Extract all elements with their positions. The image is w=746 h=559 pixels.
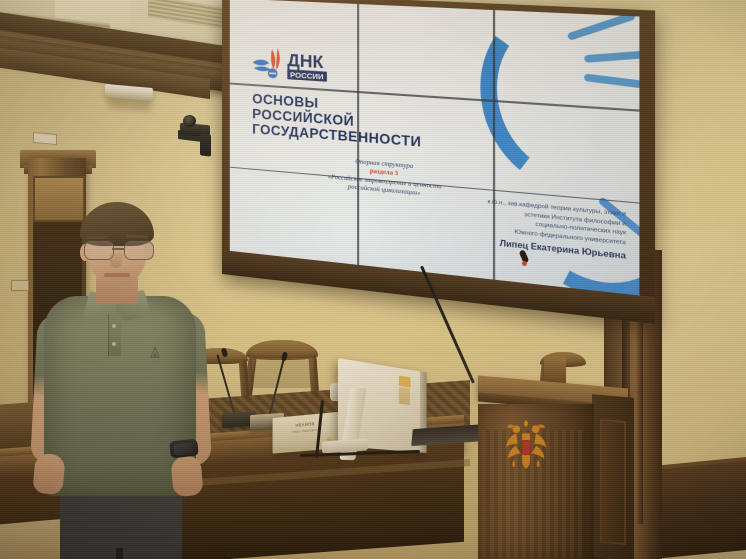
screen-display-area: ДНК РОССИИ ОСНОВЫ РОССИЙСКОЙ ГОСУДАРСТВЕ…	[230, 0, 640, 295]
trouser-leg-separation	[116, 548, 123, 559]
shirt-chest-logo-icon	[148, 346, 162, 360]
glasses-lens-right	[124, 241, 154, 260]
coat-of-arms-shield	[522, 440, 530, 454]
smartwatch-face	[173, 442, 193, 456]
logo-sub-text: РОССИИ	[290, 70, 323, 81]
standing-presenter	[30, 196, 220, 559]
video-wall-bezel-vertical	[357, 4, 359, 265]
russian-coat-of-arms-icon	[500, 418, 552, 474]
video-wall-bezel-vertical	[493, 10, 495, 280]
shirt-button	[112, 342, 116, 346]
person-right-hand	[170, 455, 203, 497]
logo-main-text: ДНК	[287, 50, 324, 73]
wall-far-right	[658, 230, 746, 480]
person-left-hand	[32, 453, 65, 495]
shirt-placket	[108, 314, 121, 356]
lg-logo-icon	[399, 375, 411, 387]
wall-outlet	[11, 280, 29, 291]
monitor-sticker	[399, 387, 410, 405]
podium-side-inset	[600, 419, 626, 545]
video-wall-screen[interactable]: ДНК РОССИИ ОСНОВЫ РОССИЙСКОЙ ГОСУДАРСТВЕ…	[222, 0, 655, 324]
podium-microphone-indicator	[522, 261, 527, 266]
camera-mount-arm	[200, 133, 211, 156]
person-nose	[110, 254, 122, 268]
presentation-slide: ДНК РОССИИ ОСНОВЫ РОССИЙСКОЙ ГОСУДАРСТВЕ…	[230, 0, 640, 295]
photograph-scene: ДНК РОССИИ ОСНОВЫ РОССИЙСКОЙ ГОСУДАРСТВЕ…	[0, 0, 746, 559]
door-sign	[33, 132, 57, 145]
bird-flame-emblem	[253, 47, 280, 79]
person-mouth	[104, 273, 130, 277]
person-hair	[80, 202, 154, 246]
camera-lens-icon	[183, 115, 196, 127]
glasses-bridge	[112, 248, 124, 250]
shirt-button	[112, 324, 116, 328]
